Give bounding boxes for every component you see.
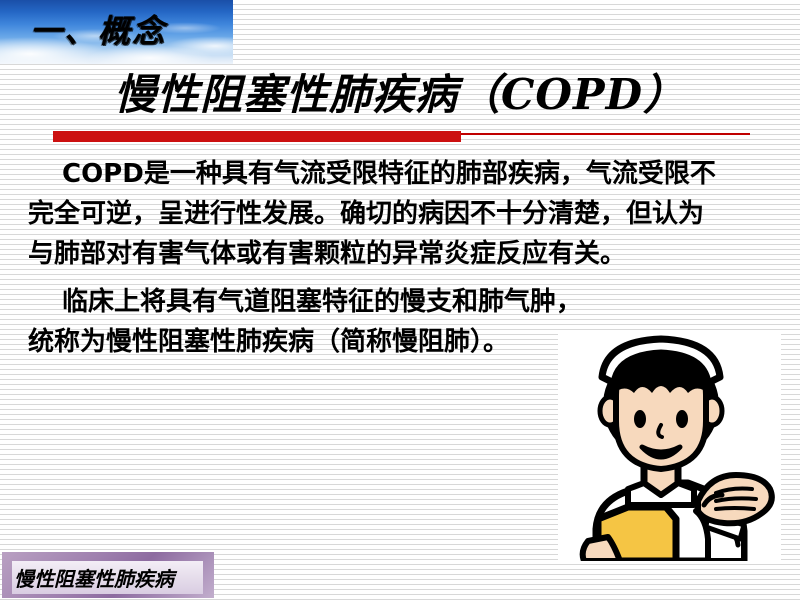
paragraph-definition: COPD是一种具有气流受限特征的肺部疾病，气流受限不完全可逆，呈进行性发展。确切…	[28, 154, 728, 274]
slide-canvas: 一、概念 慢性阻塞性肺疾病（COPD） COPD是一种具有气流受限特征的肺部疾病…	[0, 0, 800, 600]
nurse-figure-icon	[558, 333, 781, 561]
body-content: COPD是一种具有气流受限特征的肺部疾病，气流受限不完全可逆，呈进行性发展。确切…	[28, 154, 728, 362]
section-heading: 一、概念	[30, 8, 230, 54]
paragraph-clinical: 临床上将具有气道阻塞特征的慢支和肺气肿，统称为慢性阻塞性肺疾病（简称慢阻肺）。	[28, 282, 588, 362]
title-underline-thick	[53, 131, 461, 142]
nurse-illustration	[558, 333, 781, 561]
footer-plate: 慢性阻塞性肺疾病	[2, 552, 214, 598]
footer-plate-face: 慢性阻塞性肺疾病	[12, 561, 203, 594]
page-title-text: 慢性阻塞性肺疾病（COPD）	[114, 70, 686, 119]
header-banner-image: 一、概念	[0, 0, 233, 64]
page-title: 慢性阻塞性肺疾病（COPD）	[0, 66, 800, 124]
footer-label: 慢性阻塞性肺疾病	[12, 563, 174, 592]
